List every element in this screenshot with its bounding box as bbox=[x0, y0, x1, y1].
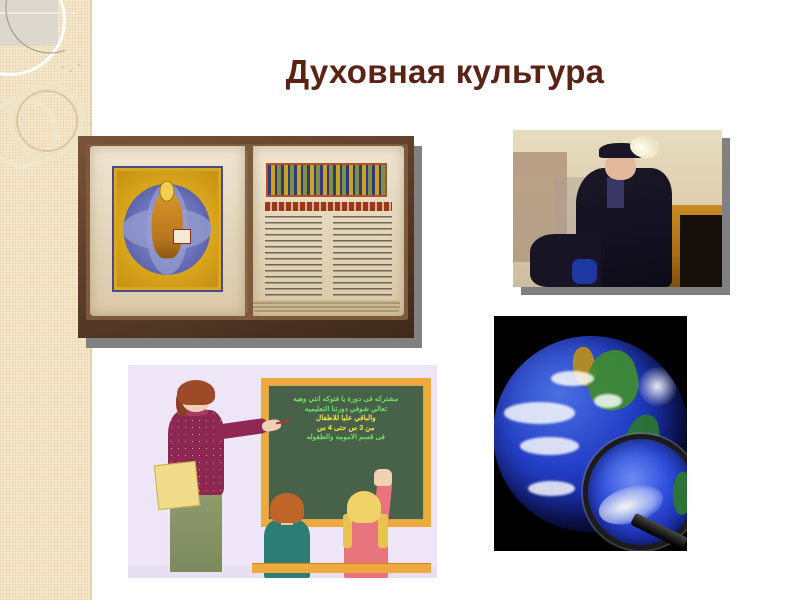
sidebar-dot-icon bbox=[62, 66, 64, 68]
manuscript-illumination-frame bbox=[112, 166, 223, 292]
blackboard-text-block: مشتركه فى دورة يا فتوكه انتي وهيه تعالي … bbox=[274, 394, 417, 442]
manuscript-right-page bbox=[253, 146, 404, 316]
classroom-illustration-image[interactable]: مشتركه فى دورة يا فتوكه انتي وهيه تعالي … bbox=[128, 365, 437, 578]
earth-cloud bbox=[504, 402, 575, 424]
manuscript-codex-icon bbox=[173, 229, 190, 244]
portrait-carriage-dark bbox=[680, 215, 722, 287]
magnified-landmass bbox=[673, 472, 687, 514]
manuscript-left-page bbox=[90, 146, 245, 316]
manuscript-page-edges bbox=[253, 300, 400, 312]
blackboard-line: تعالي شوفي دورتنا التعليميه bbox=[274, 404, 417, 414]
blackboard-line: مشتركه فى دورة يا فتوكه انتي وهيه bbox=[274, 394, 417, 404]
earth-storm-swirl bbox=[638, 367, 677, 406]
earth-cloud bbox=[594, 394, 621, 408]
teacher-book bbox=[154, 461, 201, 510]
classroom-desk bbox=[252, 563, 431, 573]
manuscript-headpiece-ornament bbox=[266, 163, 387, 197]
blackboard-line: والباقي عليا للاطفال bbox=[274, 413, 417, 423]
earth-magnifier-image[interactable] bbox=[494, 316, 687, 551]
teacher-hair bbox=[177, 380, 214, 406]
portrait-blue-fabric bbox=[572, 259, 597, 284]
sidebar-ring-inner-icon bbox=[16, 90, 78, 152]
portrait-scarf bbox=[607, 177, 624, 208]
girl-hair bbox=[347, 491, 381, 523]
girl-raised-hand bbox=[374, 469, 393, 486]
boy-hair bbox=[270, 493, 304, 523]
kramskoy-portrait-image[interactable] bbox=[513, 130, 722, 287]
sidebar-dot-icon bbox=[78, 64, 80, 66]
earth-cloud bbox=[520, 437, 579, 455]
manuscript-gold-ground bbox=[117, 171, 218, 287]
sidebar-dot-icon bbox=[70, 70, 72, 72]
illuminated-manuscript-image[interactable] bbox=[78, 136, 414, 338]
blackboard-line: من 3 س حتى 4 س bbox=[274, 423, 417, 433]
girl-braid bbox=[378, 514, 387, 548]
manuscript-halo-icon bbox=[160, 181, 175, 202]
page-title: Духовная культура bbox=[110, 53, 780, 91]
manuscript-gutter bbox=[245, 151, 248, 313]
earth-cloud bbox=[528, 481, 575, 497]
manuscript-text-column bbox=[265, 216, 323, 301]
manuscript-rubric-line bbox=[265, 202, 392, 211]
earth-cloud bbox=[551, 371, 594, 387]
manuscript-book-body bbox=[86, 144, 408, 320]
manuscript-text-column bbox=[333, 216, 392, 301]
blackboard-line: فى قسم الامومه والطفوله bbox=[274, 432, 417, 442]
presentation-slide: Духовная культура bbox=[0, 0, 800, 600]
